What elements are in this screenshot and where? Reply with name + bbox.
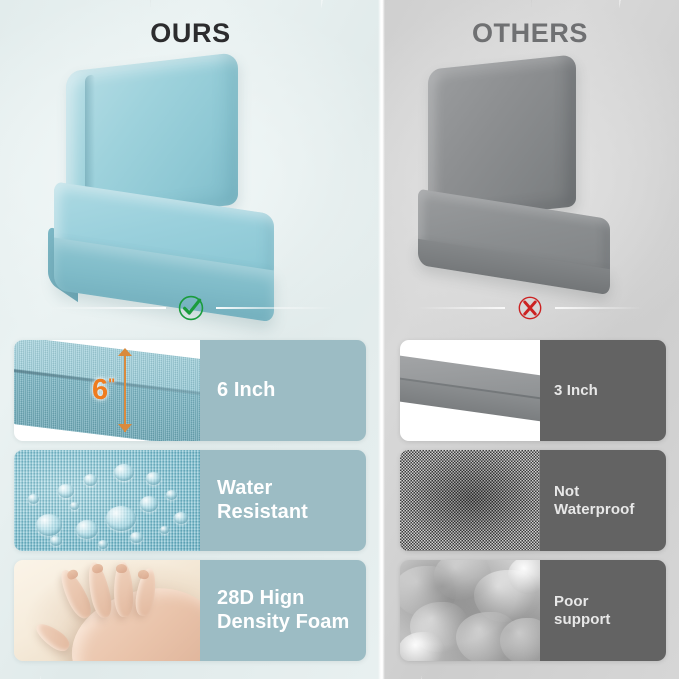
thick-cushion-image: 6" [14,340,200,441]
others-heading: OTHERS [381,18,679,49]
water-droplet [84,474,97,486]
water-droplet [106,506,136,531]
feature-label: Poor support [540,560,666,661]
fiberfill-image [400,560,540,661]
ours-heading: OURS [0,18,381,49]
fabric-weave-texture [14,450,200,551]
ours-feature-cards: 6" 6 Inch [14,340,366,661]
dimension-unit: " [108,375,115,392]
fiberfill-shading [400,560,540,661]
dimension-arrow-up [118,348,132,356]
others-badge-row [381,291,679,325]
x-circle-icon [515,293,545,323]
water-droplet [114,464,134,481]
others-hero-image [412,58,632,298]
water-droplet [146,472,161,485]
column-divider [378,0,385,679]
feature-label: 28D Hign Density Foam [200,560,366,661]
ours-hero-image [48,58,328,298]
dimension-value: 6 [92,374,108,406]
water-droplet [50,536,62,546]
divider-line-right [555,307,643,309]
water-droplet [174,512,188,524]
divider-line-left [417,307,505,309]
water-droplet [28,494,39,504]
feature-card-foam-density[interactable]: 28D Hign Density Foam [14,560,366,661]
water-beading-image [14,450,200,551]
check-circle-icon [176,293,206,323]
dimension-arrow-down [118,424,132,432]
others-feature-cards: 3 Inch Not Waterproof Poor support [400,340,666,661]
water-droplet [76,520,98,539]
water-droplet [98,540,108,549]
mesh-fabric-image [400,450,540,551]
ours-badge-row [0,291,381,325]
dimension-callout: 6" [92,376,115,405]
feature-label: 6 Inch [200,340,366,441]
feature-card-not-waterproof[interactable]: Not Waterproof [400,450,666,551]
water-droplet [140,496,158,512]
mesh-shading [400,450,540,551]
water-droplet [36,514,62,536]
feature-label: Not Waterproof [540,450,666,551]
thumb [32,619,73,655]
dimension-line [124,352,126,432]
divider-line-right [216,307,334,309]
feature-label: 3 Inch [540,340,666,441]
divider-line-left [48,307,166,309]
water-droplet [130,532,143,543]
feature-label: Water Resistant [200,450,366,551]
water-droplet [160,526,169,534]
water-droplet [166,490,177,500]
thin-cushion-image [400,340,540,441]
feature-card-thickness[interactable]: 6" 6 Inch [14,340,366,441]
comparison-infographic: OURS OTHERS [0,0,679,679]
water-droplet [58,484,74,498]
water-droplet [70,502,79,510]
feature-card-thickness[interactable]: 3 Inch [400,340,666,441]
hand-on-foam-image [14,560,200,661]
feature-card-poor-support[interactable]: Poor support [400,560,666,661]
fingernail [116,564,127,573]
feature-card-water-resistant[interactable]: Water Resistant [14,450,366,551]
